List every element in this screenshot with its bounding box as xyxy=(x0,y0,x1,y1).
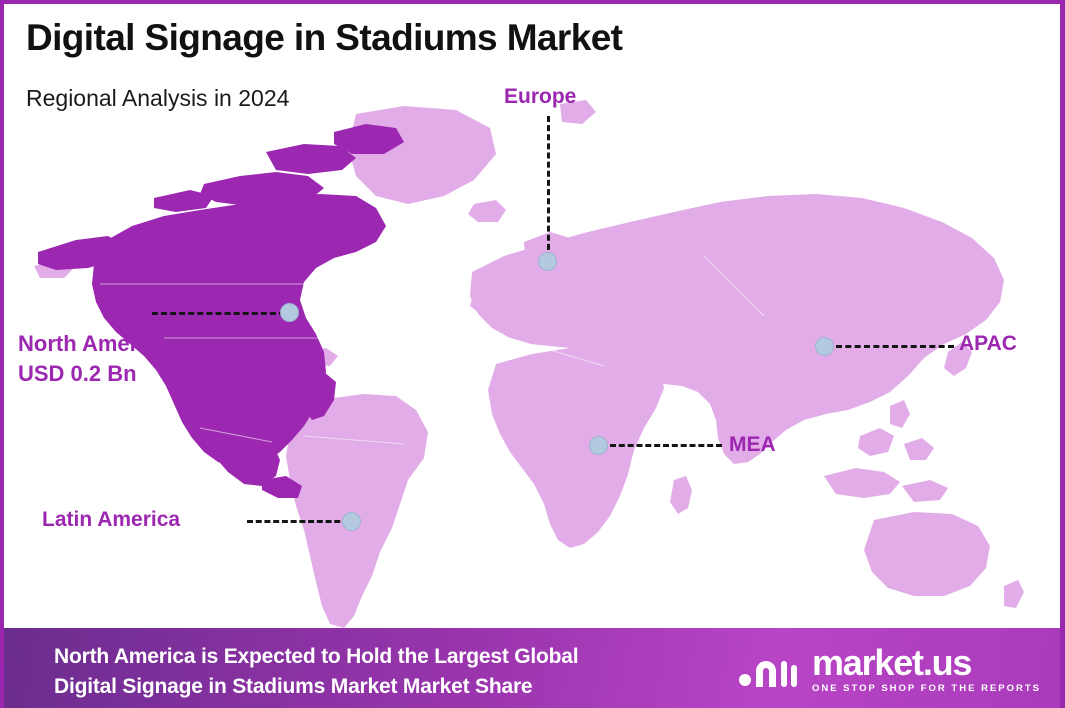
bottom-banner: North America is Expected to Hold the La… xyxy=(4,628,1065,708)
map-marker-latin-america[interactable] xyxy=(342,512,361,531)
region-label-mea: MEA xyxy=(729,432,776,458)
region-label-apac: APAC xyxy=(959,331,1017,357)
leader-line-latin-america xyxy=(247,520,349,523)
logo-text-block: market.us ONE STOP SHOP FOR THE REPORTS xyxy=(812,646,1041,695)
map-marker-apac[interactable] xyxy=(815,337,834,356)
logo-name: market.us xyxy=(812,646,1041,680)
region-label-latin-america: Latin America xyxy=(42,507,180,533)
page-subtitle: Regional Analysis in 2024 xyxy=(26,84,289,112)
infographic-root: Digital Signage in Stadiums Market Regio… xyxy=(0,0,1065,708)
map-marker-mea[interactable] xyxy=(589,436,608,455)
market-us-logo-mark-icon xyxy=(738,651,800,691)
region-value-north-america: USD 0.2 Bn xyxy=(18,359,169,389)
logo-tagline: ONE STOP SHOP FOR THE REPORTS xyxy=(812,682,1041,695)
region-label-north-america: North America USD 0.2 Bn xyxy=(18,329,169,389)
map-marker-europe[interactable] xyxy=(538,252,557,271)
map-marker-north-america[interactable] xyxy=(280,303,299,322)
market-us-logo[interactable]: market.us ONE STOP SHOP FOR THE REPORTS xyxy=(738,646,1041,695)
banner-headline: North America is Expected to Hold the La… xyxy=(54,642,578,702)
leader-line-apac xyxy=(836,345,954,348)
leader-line-europe xyxy=(547,116,550,259)
leader-line-north-america xyxy=(152,312,285,315)
page-title: Digital Signage in Stadiums Market xyxy=(26,16,622,60)
region-label-europe: Europe xyxy=(504,84,576,110)
banner-headline-line2: Digital Signage in Stadiums Market Marke… xyxy=(54,672,578,702)
region-label-north-america-name: North America xyxy=(18,331,169,356)
banner-headline-line1: North America is Expected to Hold the La… xyxy=(54,645,578,668)
leader-line-mea xyxy=(610,444,722,447)
